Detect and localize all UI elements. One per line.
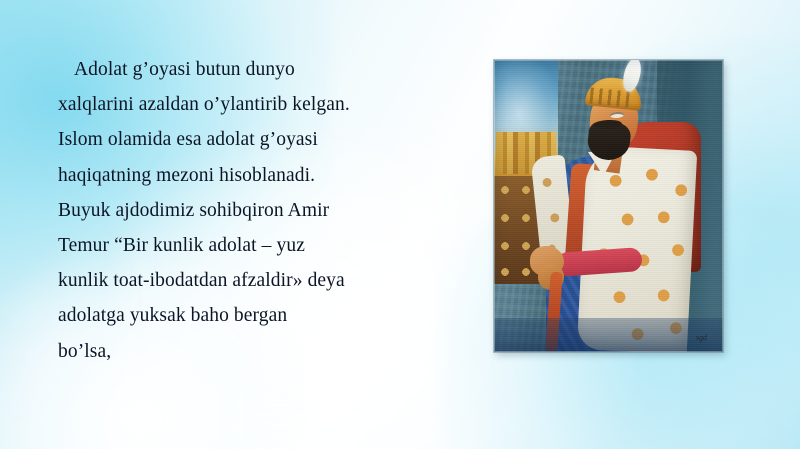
presentation-slide: Adolat g’oyasi butun dunyo xalqlarini az…: [0, 0, 800, 449]
painting-canvas: sgd: [494, 60, 723, 352]
text-line: bo’lsa,: [58, 334, 458, 369]
painting-signature: sgd: [696, 333, 707, 342]
text-line: Temur “Bir kunlik adolat – yuz: [58, 228, 458, 263]
painting-floor: [494, 318, 723, 352]
text-line: Adolat g’oyasi butun dunyo: [58, 52, 458, 87]
text-line: kunlik toat-ibodatdan afzaldir» deya: [58, 263, 458, 298]
text-line: Buyuk ajdodimiz sohibqiron Amir: [58, 193, 458, 228]
text-line: Islom olamida esa adolat g’oyasi: [58, 122, 458, 157]
amir-temur-portrait-image: sgd: [494, 60, 723, 352]
text-line: xalqlarini azaldan o’ylantirib kelgan.: [58, 87, 458, 122]
text-line: haqiqatning mezoni hisoblanadi.: [58, 158, 458, 193]
text-line: adolatga yuksak baho bergan: [58, 298, 458, 333]
slide-body-text: Adolat g’oyasi butun dunyo xalqlarini az…: [58, 52, 458, 369]
